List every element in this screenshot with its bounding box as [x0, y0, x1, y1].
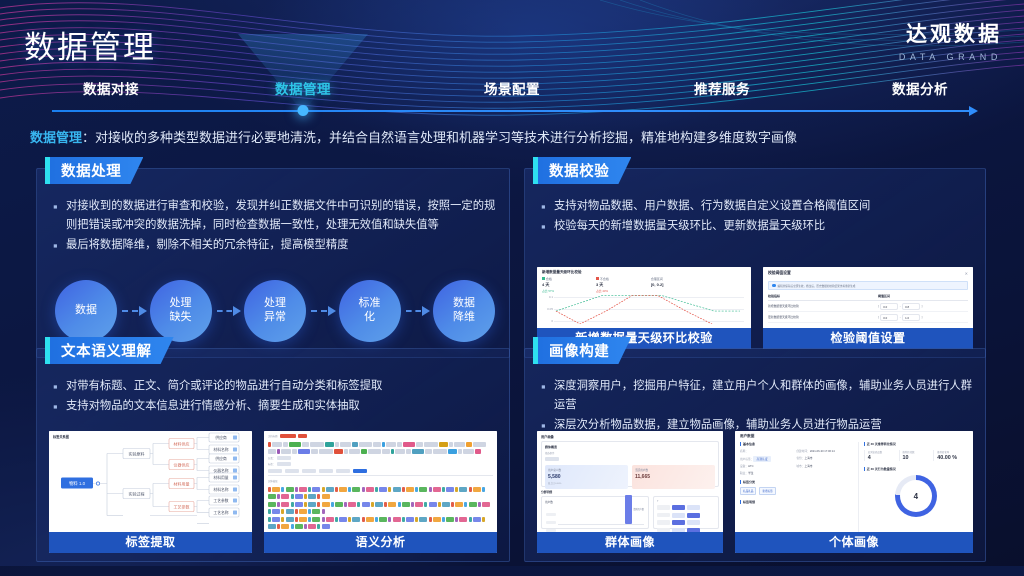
list-item: ▪ 深度洞察用户，挖掘用户特征，建立用户个人和群体的画像，辅助业务人员进行人群运…	[541, 377, 973, 416]
table-header: 校验指标 阈值区间	[768, 294, 968, 301]
info-icon	[772, 284, 776, 288]
flow-node-label2: 缺失	[170, 311, 192, 325]
flow-node-label2: 异常	[264, 311, 286, 325]
list-item: ▪ 对带有标题、正文、简介或评论的物品进行自动分类和标签提取	[53, 377, 497, 397]
step-tab-2[interactable]: 场景配置	[484, 78, 540, 98]
basic-info-pane: 基本信息 名称：创建时间：2021-06-30 17:06:14用户标签：高潜认…	[735, 442, 859, 532]
bracket-open: [	[878, 305, 879, 308]
thumb-title: 用户数据	[740, 434, 754, 439]
card-text-semantics: 文本语义理解 ▪ 对带有标题、正文、简介或评论的物品进行自动分类和标签提取 ▪ …	[36, 348, 510, 562]
flow-node-4: 数据降维	[433, 280, 495, 342]
info-row: 用户标签：高潜认证省份：上海市	[740, 456, 853, 462]
semantic-annotation-content: 文档标题分类：标签：实体抽取	[264, 431, 497, 532]
brand-name-en: DATA GRAND	[899, 52, 1002, 62]
bar	[625, 495, 632, 524]
bracket-open: [	[878, 316, 879, 319]
card-title-profile-building: 画像构建	[533, 337, 631, 364]
list-item: ▪ 校验每天的新增数据量天级环比、更新数据量天级环比	[541, 217, 973, 237]
tag-chip[interactable]: 礼品礼品	[740, 487, 756, 495]
list-item: ▪ 最后将数据降维，剔除不相关的冗余特征，提高模型精度	[53, 236, 497, 256]
max-input[interactable]: 0.8	[902, 303, 920, 310]
screenshot-tag-extraction[interactable]: 标签关系图	[49, 431, 252, 553]
max-input[interactable]: 1.0	[902, 314, 920, 321]
bottom-strip	[0, 566, 1024, 576]
rule-name: 新增数据量天级环比校验	[768, 304, 878, 308]
legend-item-fail: 不合格 3 天 占比 43%	[596, 277, 609, 293]
active-step-cone	[238, 34, 368, 112]
svg-text:工艺参数: 工艺参数	[174, 503, 190, 509]
brand-name-cn: 达观数据	[899, 18, 1002, 48]
list-item: ▪ 支持对物品数据、用户数据、行为数据自定义设置合格阈值区间	[541, 197, 973, 217]
line-chart-plot: 0.1 0.05 0 -0.05	[542, 293, 746, 324]
legend-item-pass: 合格 4 天 占比 57%	[542, 277, 554, 293]
table-row: 更新数据量天级环比校验[0.0-1.0]	[768, 312, 968, 323]
filter-chip[interactable]	[545, 457, 559, 461]
bullet-dot-icon: ▪	[53, 397, 66, 417]
kpi-row: 总浏览商品数4推荐转化数10推荐转化率40.00 %	[864, 450, 968, 461]
kpi-item: 总浏览商品数4	[864, 450, 899, 461]
bar-chart-panel: 用户数 活跃用户数	[541, 496, 649, 529]
flow-arrow-icon	[120, 306, 147, 316]
process-steps-nav: 数据对接数据管理场景配置推荐服务数据分析	[0, 78, 1024, 124]
info-row: 职业：学生	[740, 471, 853, 475]
bullet-dot-icon: ▪	[541, 217, 554, 237]
screenshot-individual-profile[interactable]: 用户数据 基本信息 名称：创建时间：2021-06-30 17:06:14用户标…	[735, 431, 973, 553]
semantics-screenshots: 标签关系图	[49, 431, 497, 553]
screenshot-caption: 个体画像	[735, 532, 973, 553]
svg-text:供应商: 供应商	[215, 456, 227, 461]
active-step-marker	[298, 105, 309, 116]
range-dash: -	[900, 316, 901, 319]
flow-node-label2: 化	[364, 311, 375, 325]
info-row: 设备：HTC城市：上海市	[740, 464, 853, 468]
tag-chip-list: 礼品礼品新增标签	[740, 487, 853, 495]
tag-tree-diagram: 物料 1.0 实验原料 实验过程 材料供应 仪器供应 材料用量	[49, 431, 252, 532]
thumb-title: 用户画像	[541, 434, 554, 439]
stat-card-active-users: 活跃用户数 11,665	[632, 465, 715, 489]
screenshot-daily-increase-check[interactable]: 新增数据量天级环比校验 合格 4 天 占比 57% 不合格	[537, 267, 751, 349]
segment-table-panel: T	[653, 496, 719, 529]
card-data-validation: 数据校验 ▪ 支持对物品数据、用户数据、行为数据自定义设置合格阈值区间 ▪ 校验…	[524, 168, 986, 358]
bullets-text-semantics: ▪ 对带有标题、正文、简介或评论的物品进行自动分类和标签提取 ▪ 支持对物品的文…	[53, 377, 497, 417]
profile-screenshots: 用户画像 群体概览 筛选条件 用户总人数 5,580 较上日 0.00% 活跃用…	[537, 431, 973, 553]
thumb-line-chart: 新增数据量天级环比校验 合格 4 天 占比 57% 不合格	[537, 267, 751, 328]
bullet-dot-icon: ▪	[541, 377, 554, 416]
thumb-individual-dashboard: 用户数据 基本信息 名称：创建时间：2021-06-30 17:06:14用户标…	[735, 431, 973, 532]
flow-node-label: 数据	[75, 304, 97, 318]
svg-text:材料用量: 材料用量	[213, 475, 228, 480]
screenshot-semantic-analysis[interactable]: 文档标题分类：标签：实体抽取 语义分析	[264, 431, 497, 553]
flow-node-label: 处理	[264, 297, 286, 311]
page-title: 数据管理	[24, 22, 156, 67]
brand-logo: 达观数据 DATA GRAND	[899, 18, 1002, 62]
validation-screenshots: 新增数据量天级环比校验 合格 4 天 占比 57% 不合格	[537, 267, 973, 349]
process-axis-line	[52, 110, 970, 112]
svg-text:材料名称: 材料名称	[213, 487, 228, 492]
screenshot-group-profile[interactable]: 用户画像 群体概览 筛选条件 用户总人数 5,580 较上日 0.00% 活跃用…	[537, 431, 723, 553]
subtitle-rest: ：对接收的多种类型数据进行必要地清洗，并结合自然语言处理和机器学习等技术进行分析…	[82, 130, 797, 145]
flow-node-label: 处理	[170, 297, 192, 311]
bullet-text: 最后将数据降维，剔除不相关的冗余特征，提高模型精度	[66, 236, 348, 256]
table-row	[657, 513, 715, 518]
bullet-text: 对接收到的数据进行审查和校验，发现并纠正数据文件中可识别的错误，按照一定的规则把…	[66, 197, 497, 236]
notice-banner: 编辑并保存后立即生效，修改后，历史数据的校验结果也将重新生成	[768, 281, 968, 290]
table-row	[657, 505, 715, 510]
step-tab-4[interactable]: 数据分析	[892, 78, 948, 98]
bullet-dot-icon: ▪	[541, 197, 554, 217]
screenshot-caption: 群体画像	[537, 532, 723, 553]
thumb-threshold-dialog: 校验阈值设置 ✕ 编辑并保存后立即生效，修改后，历史数据的校验结果也将重新生成 …	[763, 267, 973, 328]
flow-node-label2: 降维	[453, 311, 475, 325]
flow-node-label: 标准	[359, 297, 381, 311]
step-tab-3[interactable]: 推荐服务	[694, 78, 750, 98]
bullet-text: 校验每天的新增数据量天级环比、更新数据量天级环比	[554, 217, 825, 237]
basic-info-rows: 名称：创建时间：2021-06-30 17:06:14用户标签：高潜认证省份：上…	[740, 449, 853, 475]
svg-text:实验过程: 实验过程	[129, 490, 145, 496]
table-row	[657, 528, 715, 533]
list-item: ▪ 对接收到的数据进行审查和校验，发现并纠正数据文件中可识别的错误，按照一定的规…	[53, 197, 497, 236]
thumb-tag-tree: 标签关系图	[49, 431, 252, 532]
bullet-text: 深度洞察用户，挖掘用户特征，建立用户个人和群体的画像，辅助业务人员进行人群运营	[554, 377, 973, 416]
kpi-item: 推荐转化率40.00 %	[933, 450, 968, 461]
flow-node-1: 处理缺失	[150, 280, 212, 342]
card-title-data-processing: 数据处理	[45, 157, 143, 184]
close-icon[interactable]: ✕	[965, 271, 968, 276]
min-input[interactable]: 0.0	[880, 303, 898, 310]
flow-arrow-icon	[309, 306, 336, 316]
bracket-close: ]	[922, 316, 923, 319]
thumb-title: 新增数据量天级环比校验	[542, 270, 582, 275]
bullets-profile-building: ▪ 深度洞察用户，挖掘用户特征，建立用户个人和群体的画像，辅助业务人员进行人群运…	[541, 377, 973, 436]
bullets-data-processing: ▪ 对接收到的数据进行审查和校验，发现并纠正数据文件中可识别的错误，按照一定的规…	[53, 197, 497, 256]
card-profile-building: 画像构建 ▪ 深度洞察用户，挖掘用户特征，建立用户个人和群体的画像，辅助业务人员…	[524, 348, 986, 562]
svg-text:实验原料: 实验原料	[129, 450, 145, 456]
range-dash: -	[900, 305, 901, 308]
info-row: 名称：创建时间：2021-06-30 17:06:14	[740, 449, 853, 453]
bullets-data-validation: ▪ 支持对物品数据、用户数据、行为数据自定义设置合格阈值区间 ▪ 校验每天的新增…	[541, 197, 973, 237]
card-title-text-semantics: 文本语义理解	[45, 337, 174, 364]
svg-text:供应商: 供应商	[215, 435, 227, 440]
thumb-group-dashboard: 用户画像 群体概览 筛选条件 用户总人数 5,580 较上日 0.00% 活跃用…	[537, 431, 723, 532]
legend-swatch-pass	[542, 277, 545, 280]
overview-panel: 群体概览 筛选条件 用户总人数 5,580 较上日 0.00% 活跃用户数 11…	[541, 441, 719, 487]
svg-text:仪器供应: 仪器供应	[174, 461, 190, 467]
svg-text:工艺参数: 工艺参数	[213, 498, 228, 503]
behavior-pane: 近 30 天推荐转化情况 总浏览商品数4推荐转化数10推荐转化率40.00 % …	[859, 442, 973, 532]
bullet-text: 支持对物品的文本信息进行情感分析、摘要生成和实体抽取	[66, 397, 360, 417]
list-item: ▪ 支持对物品的文本信息进行情感分析、摘要生成和实体抽取	[53, 397, 497, 417]
table-row: 新增数据量天级环比校验[0.0-0.8]	[768, 301, 968, 312]
tag-chip[interactable]: 新增标签	[759, 487, 775, 495]
bullet-dot-icon: ▪	[53, 377, 66, 397]
step-tab-0[interactable]: 数据对接	[83, 78, 139, 98]
card-data-processing: 数据处理 ▪ 对接收到的数据进行审查和校验，发现并纠正数据文件中可识别的错误，按…	[36, 168, 510, 358]
svg-text:工艺名称: 工艺名称	[213, 510, 228, 515]
screenshot-caption: 标签提取	[49, 532, 252, 553]
subtitle-highlight: 数据管理	[30, 130, 82, 145]
thumb-semantic-annotation: 文档标题分类：标签：实体抽取	[264, 431, 497, 532]
flow-arrow-icon	[404, 306, 431, 316]
legend-item-range: 合理区间 [0, 0.2]	[651, 277, 664, 293]
svg-text:物料 1.0: 物料 1.0	[69, 480, 86, 487]
behavior-donut-chart: 4	[895, 475, 937, 517]
svg-text:材料供应: 材料供应	[174, 440, 190, 446]
bullet-text: 支持对物品数据、用户数据、行为数据自定义设置合格阈值区间	[554, 197, 870, 217]
bracket-close: ]	[922, 305, 923, 308]
card-title-data-validation: 数据校验	[533, 157, 631, 184]
bullet-text: 对带有标题、正文、简介或评论的物品进行自动分类和标签提取	[66, 377, 382, 397]
bullet-dot-icon: ▪	[53, 236, 66, 256]
screenshot-threshold-settings[interactable]: 校验阈值设置 ✕ 编辑并保存后立即生效，修改后，历史数据的校验结果也将重新生成 …	[763, 267, 973, 349]
stat-card-total-users: 用户总人数 5,580 较上日 0.00%	[545, 465, 628, 489]
flow-node-2: 处理异常	[244, 280, 306, 342]
flow-arrow-icon	[215, 306, 242, 316]
flow-node-3: 标准化	[339, 280, 401, 342]
svg-text:材料用量: 材料用量	[174, 480, 190, 486]
user-tag-chip: 高潜认证	[753, 456, 770, 462]
screenshot-caption: 检验阈值设置	[763, 328, 973, 349]
page-subtitle: 数据管理：对接收的多种类型数据进行必要地清洗，并结合自然语言处理和机器学习等技术…	[30, 127, 797, 146]
screenshot-caption: 语义分析	[264, 532, 497, 553]
legend-swatch-fail	[596, 277, 599, 280]
kpi-item: 推荐转化数10	[899, 450, 934, 461]
rule-name: 更新数据量天级环比校验	[768, 315, 878, 319]
bullet-dot-icon: ▪	[53, 197, 66, 236]
svg-text:仪器名称: 仪器名称	[213, 468, 228, 473]
flow-node-label: 数据	[453, 297, 475, 311]
flow-node-0: 数据	[55, 280, 117, 342]
table-row	[657, 520, 715, 525]
dialog-title: 校验阈值设置	[768, 271, 791, 276]
step-tab-1[interactable]: 数据管理	[275, 78, 331, 98]
svg-text:材料名称: 材料名称	[213, 447, 228, 452]
threshold-rows: 新增数据量天级环比校验[0.0-0.8]更新数据量天级环比校验[0.0-1.0]	[768, 301, 968, 323]
min-input[interactable]: 0.0	[880, 314, 898, 321]
